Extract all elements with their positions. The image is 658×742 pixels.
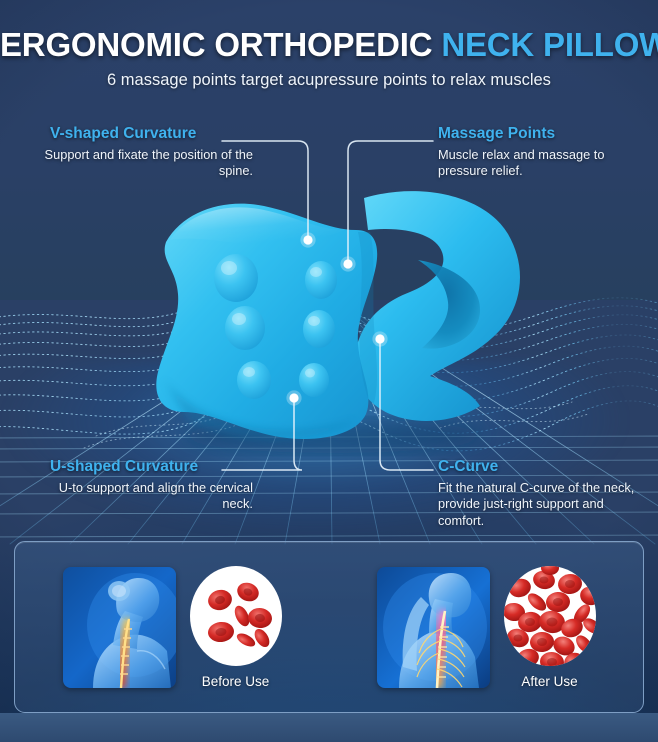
callout-massage-points: Massage Points Muscle relax and massage … [438,125,653,180]
page-subtitle: 6 massage points target acupressure poin… [0,71,658,90]
before-after-panel: Before Use [14,541,644,713]
neck-pain-anatomy-icon [63,567,176,688]
page-title: ERGONOMIC ORTHOPEDIC NECK PILLOW [0,26,658,64]
title-highlight: NECK PILLOW [441,26,658,63]
massage-point [237,361,271,399]
callout-title: U-shaped Curvature [38,458,253,476]
callout-c-curve: C-Curve Fit the natural C-curve of the n… [438,458,653,529]
callout-body: U-to support and align the cervical neck… [38,480,253,513]
footer-strip [0,713,658,742]
callout-body: Muscle relax and massage to pressure rel… [438,147,653,180]
massage-point [214,254,258,302]
comparison-label-after: After Use [521,674,577,689]
dense-blood-cells-icon [504,566,596,667]
sparse-blood-cells-icon [190,566,282,667]
massage-point [299,363,329,397]
massage-point [225,306,265,350]
massage-point [303,310,335,348]
pillow-c-curve-arm [354,191,519,421]
comparison-after: After Use [329,566,643,689]
callout-v-shaped-curvature: V-shaped Curvature Support and fixate th… [38,125,253,180]
header: ERGONOMIC ORTHOPEDIC NECK PILLOW 6 massa… [0,26,658,90]
comparison-before: Before Use [15,566,329,689]
callout-u-shaped-curvature: U-shaped Curvature U-to support and alig… [38,458,253,513]
neck-pillow-graphic [118,168,548,458]
comparison-label-before: Before Use [202,674,270,689]
infographic-stage: ERGONOMIC ORTHOPEDIC NECK PILLOW 6 massa… [0,0,658,742]
spine-nerve-anatomy-icon [377,567,490,688]
title-main: ERGONOMIC ORTHOPEDIC [0,26,432,63]
callout-title: C-Curve [438,458,653,476]
callout-body: Support and fixate the position of the s… [38,147,253,180]
callout-title: V-shaped Curvature [38,125,253,143]
callout-body: Fit the natural C-curve of the neck, pro… [438,480,653,529]
callout-title: Massage Points [438,125,653,143]
massage-point [305,261,337,299]
